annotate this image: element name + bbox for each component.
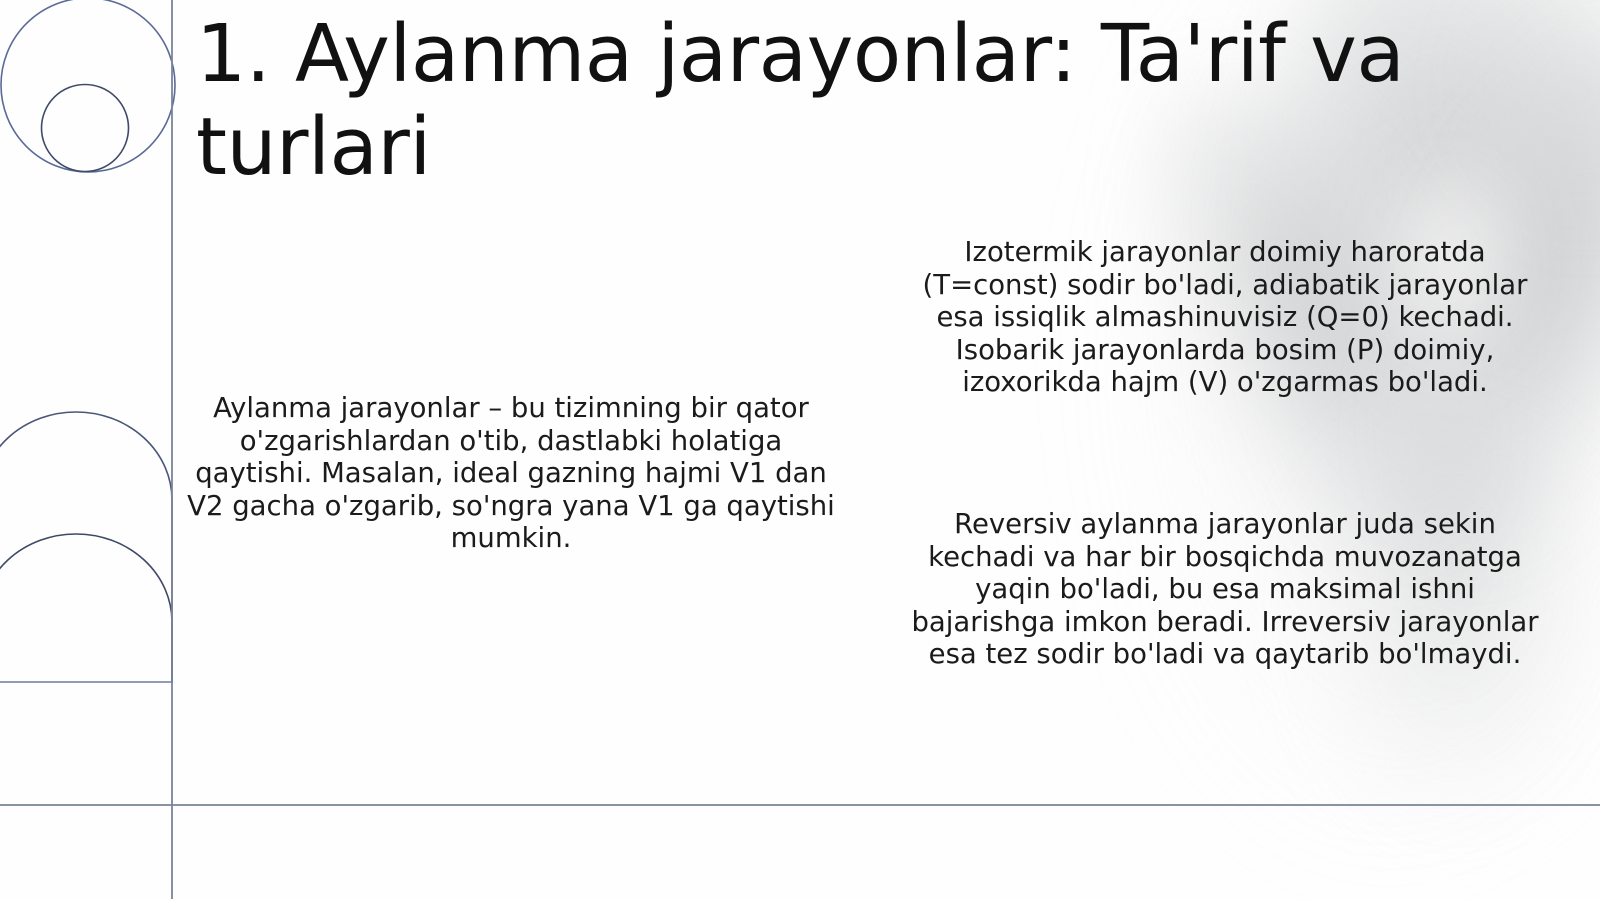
body-paragraph-right-bottom: Reversiv aylanma jarayonlar juda sekin k… <box>900 508 1550 671</box>
body-paragraph-right-top: Izotermik jarayonlar doimiy haroratda (T… <box>910 236 1540 399</box>
large-outline-circle <box>1 0 175 172</box>
small-outline-circle <box>42 85 129 172</box>
body-paragraph-left: Aylanma jarayonlar – bu tizimning bir qa… <box>186 392 836 555</box>
slide-canvas: 1. Aylanma jarayonlar: Ta'rif va turlari… <box>0 0 1600 899</box>
lower-arch-outline <box>0 534 172 682</box>
upper-arch-outline <box>0 412 172 682</box>
watermark-haze <box>1470 0 1600 240</box>
slide-title: 1. Aylanma jarayonlar: Ta'rif va turlari <box>196 8 1466 194</box>
